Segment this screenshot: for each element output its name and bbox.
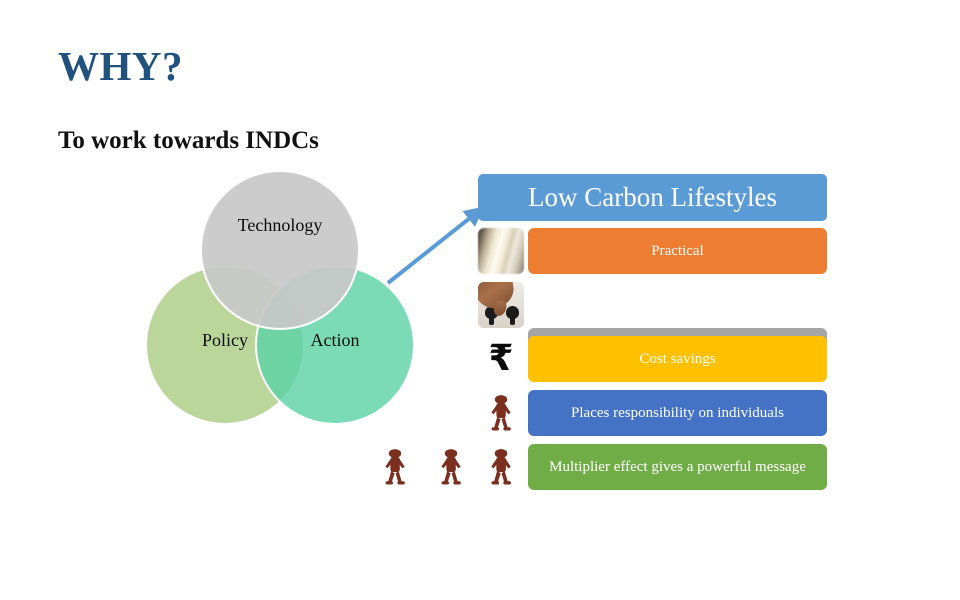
walking-people-group	[372, 442, 482, 492]
list-item[interactable]: Places responsibility on individuals	[476, 390, 828, 436]
list-item[interactable]: Multiplier effect gives a powerful messa…	[476, 444, 828, 490]
hand-switching-off-plugs-photo-icon	[478, 282, 524, 328]
list-item[interactable]: Micro – level emission reductions	[476, 282, 828, 328]
low-carbon-lifestyles-panel: Low Carbon Lifestyles Practical Micro – …	[476, 174, 828, 494]
walking-person-icon	[478, 442, 524, 492]
venn-diagram: Technology Policy Action	[140, 165, 420, 425]
venn-label-action: Action	[255, 330, 415, 351]
rupee-icon: ₹	[478, 336, 524, 382]
list-item[interactable]: ₹ Cost savings	[476, 336, 828, 382]
bar-multiplier-effect-gives-a-powerful-message[interactable]: Multiplier effect gives a powerful messa…	[528, 444, 827, 490]
list-item[interactable]: Practical	[476, 228, 828, 274]
walking-person-icon	[372, 442, 418, 492]
page-subtitle: To work towards INDCs	[58, 127, 319, 155]
panel-header-low-carbon-lifestyles: Low Carbon Lifestyles	[478, 174, 827, 221]
bar-places-responsibility-on-individuals[interactable]: Places responsibility on individuals	[528, 390, 827, 436]
walking-person-icon	[428, 442, 474, 492]
bar-cost-savings[interactable]: Cost savings	[528, 336, 827, 382]
page-title: WHY?	[58, 42, 183, 90]
walking-person-icon	[478, 390, 524, 436]
lightbulb-photo-icon	[478, 228, 524, 274]
venn-circle-technology	[200, 170, 360, 330]
venn-label-technology: Technology	[200, 215, 360, 236]
bar-practical[interactable]: Practical	[528, 228, 827, 274]
